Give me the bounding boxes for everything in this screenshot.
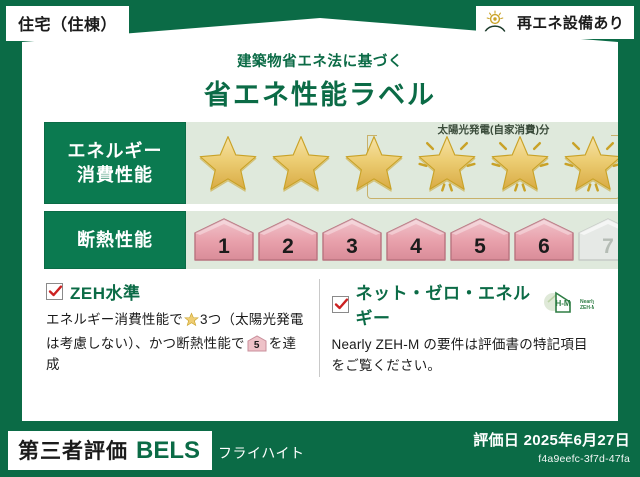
insulation-grade-value: 6 xyxy=(538,236,550,263)
building-type-label: 住宅（住棟） xyxy=(18,11,117,35)
page-title: 省エネ性能ラベル xyxy=(36,73,604,112)
energy-performance-label: エネルギー 消費性能 xyxy=(44,122,186,204)
insulation-grade-on: 3 xyxy=(321,217,383,263)
label-subtitle: 建築物省エネ法に基づく xyxy=(36,50,604,71)
criteria-section: ZEH水準 エネルギー消費性能で3つ（太陽光発電は考慮しない）、かつ断熱性能で5… xyxy=(46,279,594,377)
svg-text:H-M: H-M xyxy=(555,299,570,308)
label-body-card: 建築物省エネ法に基づく 省エネ性能ラベル エネルギー 消費性能 太陽光発電(自家… xyxy=(22,18,618,421)
insulation-grade-on: 4 xyxy=(385,217,447,263)
insulation-grade-on: 5 xyxy=(449,217,511,263)
star-icon xyxy=(184,312,199,334)
criterion-zeh-title: ZEH水準 xyxy=(70,279,141,304)
star-filled xyxy=(266,130,336,196)
bels-badge: 第三者評価 BELS xyxy=(8,431,212,470)
insulation-grade-on: 1 xyxy=(193,217,255,263)
energy-stars-panel: 太陽光発電(自家消費)分 xyxy=(186,122,629,204)
energy-label-line2: 消費性能 xyxy=(77,163,153,187)
evaluation-id: f4a9eefc-3f7d-47fa xyxy=(473,453,630,465)
star-solar xyxy=(558,130,628,196)
insulation-label-line1: 断熱性能 xyxy=(77,228,153,252)
energy-performance-label: 住宅（住棟） 再エネ設備あり 建築物省エネ法に基づく 省エネ性能ラベル エ xyxy=(0,0,640,477)
house-grade-icon: 5 xyxy=(247,335,267,352)
energy-label-line1: エネルギー xyxy=(68,139,163,163)
check-icon xyxy=(334,297,349,312)
bels-en-label: BELS xyxy=(136,437,200,465)
criterion-nze-body: Nearly ZEH-M の要件は評価書の特記項目をご覧ください。 xyxy=(332,335,595,377)
bels-jp-label: 第三者評価 xyxy=(18,435,128,465)
star-solar xyxy=(412,130,482,196)
insulation-grade-value: 3 xyxy=(346,236,358,263)
checkbox-nze[interactable] xyxy=(332,296,349,313)
insulation-grade-value: 1 xyxy=(218,236,230,263)
check-icon xyxy=(48,284,63,299)
insulation-grade-value: 7 xyxy=(602,236,614,263)
criterion-nze: ネット・ゼロ・エネルギー H-M Nearly ZEH-M xyxy=(319,279,595,377)
criterion-zeh-body: エネルギー消費性能で3つ（太陽光発電は考慮しない）、かつ断熱性能で5を達成 xyxy=(46,310,309,376)
renewable-badge-label: 再エネ設備あり xyxy=(517,12,624,33)
insulation-grade-on: 6 xyxy=(513,217,575,263)
star-rating xyxy=(187,130,628,196)
energy-performance-row: エネルギー 消費性能 太陽光発電(自家消費)分 xyxy=(44,122,596,204)
star-solar xyxy=(485,130,555,196)
star-filled xyxy=(193,130,263,196)
evaluation-info: 評価日 2025年6月27日 f4a9eefc-3f7d-47fa xyxy=(473,429,630,465)
sun-icon xyxy=(484,10,510,34)
criterion-zeh: ZEH水準 エネルギー消費性能で3つ（太陽光発電は考慮しない）、かつ断熱性能で5… xyxy=(46,279,309,377)
criterion-zeh-head: ZEH水準 xyxy=(46,279,309,304)
insulation-performance-label: 断熱性能 xyxy=(44,211,186,269)
builder-name: フライハイト xyxy=(218,443,304,463)
insulation-grade-value: 2 xyxy=(282,236,294,263)
criterion-nze-head: ネット・ゼロ・エネルギー H-M Nearly ZEH-M xyxy=(332,279,595,329)
zeh-m-house-icon: H-M Nearly ZEH-M xyxy=(542,289,594,320)
insulation-performance-row: 断熱性能 1 xyxy=(44,211,596,269)
insulation-grade-off: 7 xyxy=(577,217,639,263)
house-grade-value: 5 xyxy=(247,341,267,351)
insulation-grades-panel: 1 2 xyxy=(186,211,640,269)
checkbox-zeh[interactable] xyxy=(46,283,63,300)
insulation-grade-scale: 1 2 xyxy=(187,217,639,263)
footer: 第三者評価 BELS フライハイト 評価日 2025年6月27日 f4a9eef… xyxy=(0,421,640,477)
insulation-grade-value: 5 xyxy=(474,236,486,263)
svg-text:ZEH-M: ZEH-M xyxy=(580,305,594,311)
evaluation-date: 評価日 2025年6月27日 xyxy=(473,429,630,450)
criterion-zeh-text1: エネルギー消費性能で xyxy=(46,312,183,327)
star-filled xyxy=(339,130,409,196)
insulation-grade-value: 4 xyxy=(410,236,422,263)
insulation-grade-on: 2 xyxy=(257,217,319,263)
criterion-nze-title: ネット・ゼロ・エネルギー xyxy=(356,279,532,329)
